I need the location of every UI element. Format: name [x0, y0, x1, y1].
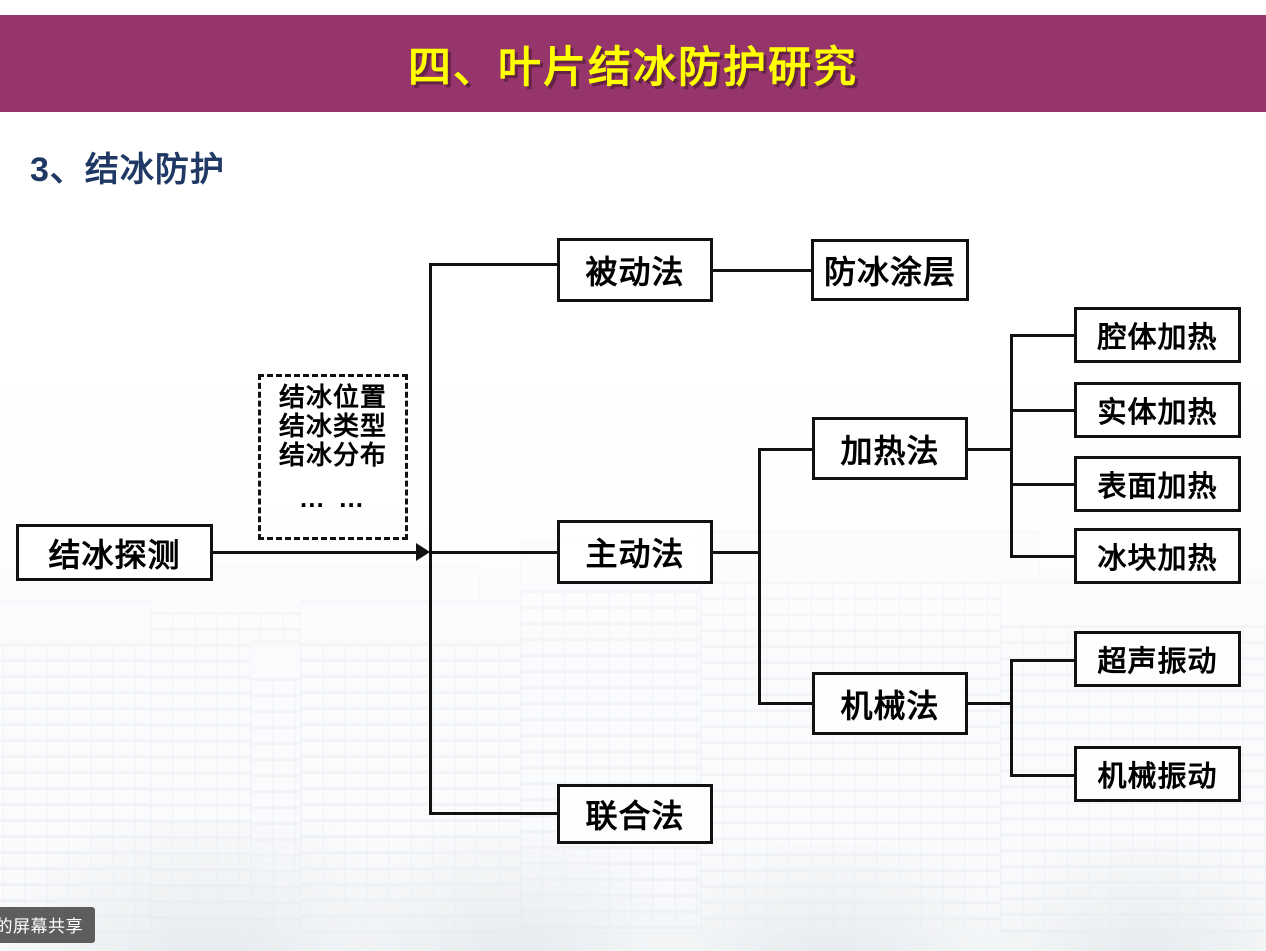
connector-subtrunk-vertical: [758, 448, 761, 705]
node-combined-method[interactable]: 联合法: [557, 784, 713, 844]
node-label: 结冰探测: [48, 530, 180, 576]
node-anti-icing-coating[interactable]: 防冰涂层: [811, 239, 969, 301]
flow-diagram: 结冰探测 结冰位置 结冰类型 结冰分布 … … 被动法 主动法 联合法: [0, 0, 1266, 951]
node-label: 加热法: [840, 426, 939, 472]
arrow-head-to-trunk: [416, 543, 430, 561]
connector-active-to-subtrunk: [713, 551, 761, 554]
attribute-ice-type: 结冰类型: [279, 412, 387, 441]
node-label: 冰块加热: [1097, 535, 1217, 577]
node-mechanical-method[interactable]: 机械法: [812, 672, 968, 735]
node-ice-detection[interactable]: 结冰探测: [16, 524, 213, 581]
connector-mechanical-to-trunk: [968, 702, 1013, 705]
node-label: 防冰涂层: [824, 247, 956, 293]
node-label: 被动法: [585, 247, 684, 293]
node-detection-attributes: 结冰位置 结冰类型 结冰分布 … …: [258, 374, 408, 540]
connector-mechanical-to-vibration: [1010, 774, 1076, 777]
connector-subtrunk-to-mechanical: [758, 702, 815, 705]
node-label: 联合法: [585, 791, 684, 837]
node-label: 超声振动: [1097, 638, 1217, 680]
connector-heating-to-solid: [1010, 409, 1076, 412]
node-label: 机械法: [840, 681, 939, 727]
connector-heating-trunk-vertical: [1010, 334, 1013, 558]
screen-share-notice: 电的屏幕共享: [0, 907, 95, 943]
node-ultrasonic-vibration[interactable]: 超声振动: [1074, 631, 1241, 687]
connector-heating-to-surface: [1010, 483, 1076, 486]
node-cavity-heating[interactable]: 腔体加热: [1074, 307, 1241, 363]
attribute-ice-distribution: 结冰分布: [279, 441, 387, 470]
node-surface-heating[interactable]: 表面加热: [1074, 456, 1241, 512]
node-active-method[interactable]: 主动法: [557, 520, 713, 584]
attribute-ice-position: 结冰位置: [279, 383, 387, 412]
attribute-ellipsis: … …: [299, 484, 367, 513]
connector-passive-to-coating: [713, 269, 813, 272]
connector-heating-to-trunk: [968, 448, 1013, 451]
connector-trunk-to-combined: [429, 812, 559, 815]
node-label: 实体加热: [1097, 389, 1217, 431]
node-label: 主动法: [585, 529, 684, 575]
connector-trunk-to-active: [429, 551, 559, 554]
node-label: 机械振动: [1097, 753, 1217, 795]
connector-mechanical-to-ultrasonic: [1010, 659, 1076, 662]
node-label: 腔体加热: [1097, 314, 1217, 356]
node-label: 表面加热: [1097, 463, 1217, 505]
connector-mechanical-trunk-vertical: [1010, 659, 1013, 777]
slide-canvas: 四、叶片结冰防护研究 3、结冰防护 结冰探测 结冰位置 结冰类型 结冰分布 … …: [0, 0, 1266, 951]
connector-heating-to-iceblock: [1010, 555, 1076, 558]
node-iceblock-heating[interactable]: 冰块加热: [1074, 528, 1241, 584]
node-passive-method[interactable]: 被动法: [557, 238, 713, 302]
connector-heating-to-cavity: [1010, 334, 1076, 337]
connector-subtrunk-to-heating: [758, 448, 815, 451]
node-heating-method[interactable]: 加热法: [812, 417, 968, 480]
node-mechanical-vibration[interactable]: 机械振动: [1074, 746, 1241, 802]
connector-trunk-vertical: [429, 263, 432, 814]
connector-root-to-trunk: [213, 551, 420, 554]
connector-trunk-to-passive: [429, 263, 559, 266]
node-solid-heating[interactable]: 实体加热: [1074, 382, 1241, 438]
